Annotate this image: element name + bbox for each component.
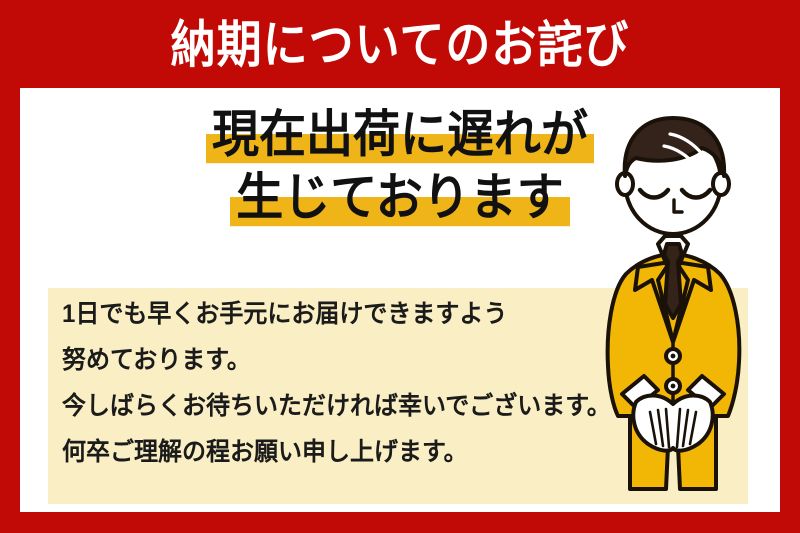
page-title: 納期についてのお詫び xyxy=(171,19,630,69)
headline-line-1: 現在出荷に遅れが xyxy=(206,108,594,159)
content-card: 現在出荷に遅れが 生じております 1日でも早くお手元にお届けできますよう 努めて… xyxy=(20,88,780,512)
bowing-businessman-illustration xyxy=(578,104,768,504)
header-band: 納期についてのお詫び xyxy=(0,0,800,88)
headline-line-2: 生じております xyxy=(230,171,570,222)
headline-text: 生じております xyxy=(236,168,564,225)
apology-poster: 納期についてのお詫び 現在出荷に遅れが 生じております 1日でも早くお手元にお届… xyxy=(0,0,800,533)
headline-text: 現在出荷に遅れが xyxy=(212,105,588,162)
